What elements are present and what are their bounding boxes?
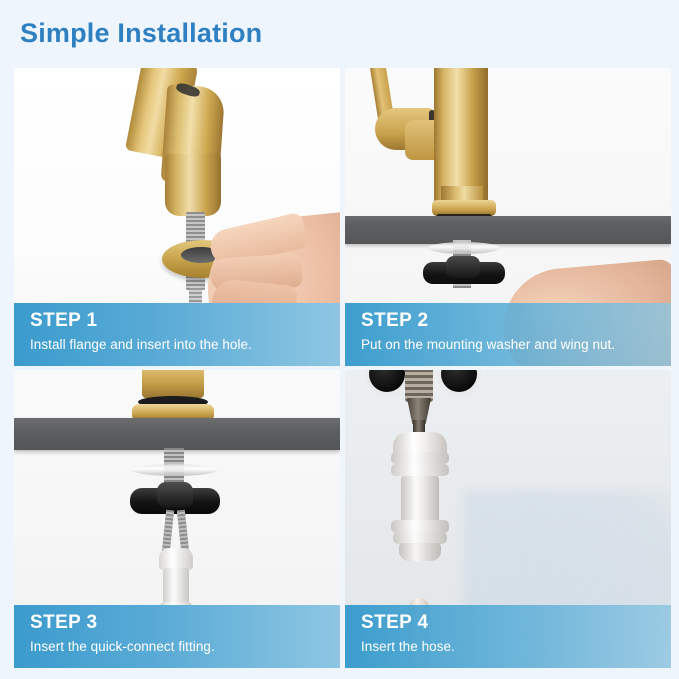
faucet-base-body [142, 370, 204, 398]
step-4-caption: STEP 4 Insert the hose. [345, 605, 671, 668]
page-title: Simple Installation [20, 18, 262, 49]
quick-connect-rib-1 [391, 452, 449, 464]
step-panel-1: STEP 1 Install flange and insert into th… [14, 68, 340, 366]
mounting-washer [428, 242, 500, 254]
quick-connect-rib-2 [391, 464, 449, 476]
step-4-title: STEP 4 [361, 611, 671, 635]
quick-connect-collar-bottom [399, 543, 441, 561]
step-1-title: STEP 1 [30, 309, 340, 333]
step-2-caption: STEP 2 Put on the mounting washer and wi… [345, 303, 671, 366]
steps-grid: STEP 1 Install flange and insert into th… [14, 68, 665, 664]
step-2-title: STEP 2 [361, 309, 671, 333]
step-3-caption: STEP 3 Insert the quick-connect fitting. [14, 605, 340, 668]
quick-connect-body [401, 476, 439, 522]
step-2-description: Put on the mounting washer and wing nut. [361, 335, 671, 355]
step-panel-3: STEP 3 Insert the quick-connect fitting. [14, 370, 340, 668]
countertop-slab [14, 418, 340, 450]
quick-connect-collar-top [159, 548, 193, 570]
step-1-description: Install flange and insert into the hole. [30, 335, 340, 355]
threaded-nipple [405, 370, 433, 402]
mounting-washer [132, 464, 218, 476]
faucet-base-body [165, 154, 221, 216]
wing-nut-center [157, 482, 193, 508]
wing-nut-center [446, 256, 480, 278]
step-1-caption: STEP 1 Install flange and insert into th… [14, 303, 340, 366]
step-3-description: Insert the quick-connect fitting. [30, 637, 340, 657]
installation-infographic: Simple Installation S [0, 0, 679, 679]
step-panel-2: STEP 2 Put on the mounting washer and wi… [345, 68, 671, 366]
step-3-title: STEP 3 [30, 611, 340, 635]
step-panel-4: STEP 4 Insert the hose. [345, 370, 671, 668]
step-4-description: Insert the hose. [361, 637, 671, 657]
countertop-slab [345, 216, 671, 244]
